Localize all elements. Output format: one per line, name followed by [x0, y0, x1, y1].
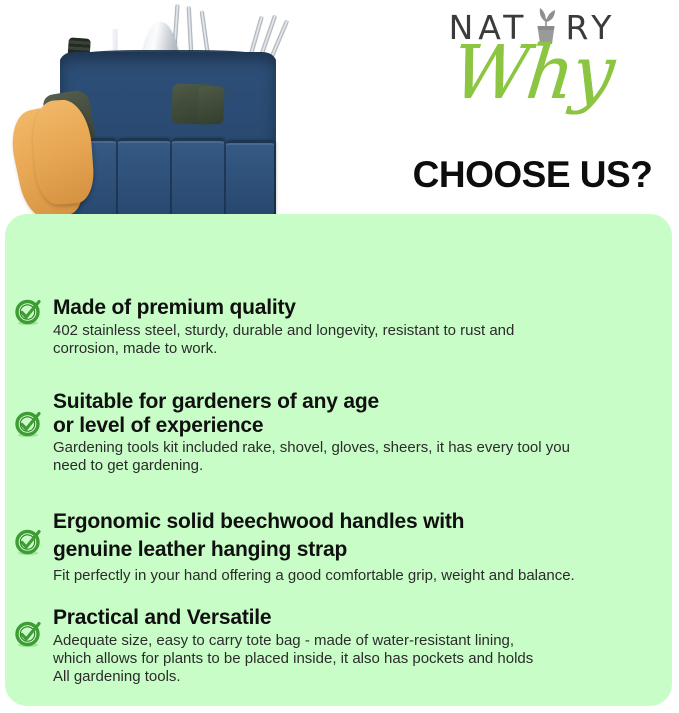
feature-item: Practical and Versatile Adequate size, e… [13, 606, 668, 686]
headline-script-why: Why [386, 36, 679, 110]
feature-description: Gardening tools kit included rake, shove… [53, 439, 668, 475]
feature-description: Adequate size, easy to carry tote bag - … [53, 632, 668, 686]
green-check-circle-icon [13, 618, 43, 648]
feature-description: Fit perfectly in your hand offering a go… [53, 567, 668, 585]
shears-handle-2 [197, 86, 224, 125]
green-check-circle-icon [13, 408, 43, 438]
feature-text: Suitable for gardeners of any age or lev… [53, 390, 668, 475]
feature-description: 402 stainless steel, sturdy, durable and… [53, 322, 668, 358]
feature-text: Made of premium quality 402 stainless st… [53, 296, 668, 358]
headline-choose-us: CHOOSE US? [390, 156, 675, 193]
green-check-circle-icon [13, 296, 43, 326]
feature-text: Ergonomic solid beechwood handles with g… [53, 508, 668, 585]
feature-list: Made of premium quality 402 stainless st… [5, 214, 672, 706]
feature-title: Made of premium quality [53, 296, 668, 320]
feature-title: Ergonomic solid beechwood handles with g… [53, 508, 668, 565]
feature-title: Practical and Versatile [53, 606, 668, 630]
feature-item: Suitable for gardeners of any age or lev… [13, 390, 668, 475]
feature-item: Made of premium quality 402 stainless st… [13, 296, 668, 358]
feature-title: Suitable for gardeners of any age or lev… [53, 390, 668, 437]
brand-header: NAT RY Why CHOOSE US? [390, 6, 675, 211]
feature-text: Practical and Versatile Adequate size, e… [53, 606, 668, 686]
green-check-circle-icon [13, 526, 43, 556]
feature-item: Ergonomic solid beechwood handles with g… [13, 508, 668, 585]
